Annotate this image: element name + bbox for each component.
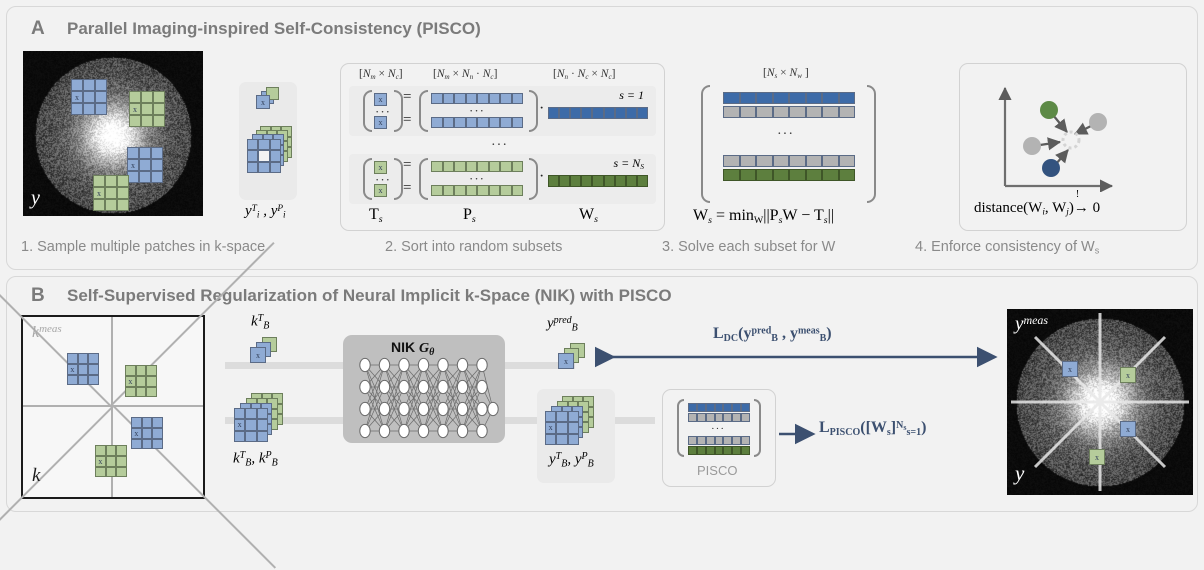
- output-ytp-label: yTB, yPB: [549, 451, 594, 469]
- patch-stack-container: x: [239, 82, 297, 200]
- meas-patch-blue-2: x: [1120, 421, 1136, 437]
- patch-green-2: x: [93, 175, 129, 211]
- panel-b-letter: B: [31, 285, 45, 307]
- caption-step-4: 4. Enforce consistency of Ws: [915, 239, 1099, 256]
- solve-equation: Ws = minW||PsW − Ts||: [693, 207, 834, 226]
- subset-index-last: s = NS: [614, 156, 645, 171]
- loss-pisco-label: LPISCO([Ws]Nss=1): [819, 419, 926, 438]
- kspace-patch-blue-1: x: [67, 353, 99, 385]
- distance-equation: distance(Wi, Wj)!→ 0: [974, 200, 1100, 218]
- patch-stack-label: yTi , yPi: [245, 203, 286, 221]
- subset-row-first: x ··· x = = ···: [349, 86, 656, 136]
- nik-network-graph: [343, 335, 505, 443]
- kspace-patch-green-2: x: [95, 445, 127, 477]
- caption-step-1: 1. Sample multiple patches in k-space: [21, 239, 265, 255]
- panel-a-title: Parallel Imaging-inspired Self-Consisten…: [67, 19, 481, 39]
- matrix-label-T: Ts: [369, 206, 383, 225]
- panel-a-letter: A: [31, 18, 45, 40]
- meas-patch-green-1: x: [1120, 367, 1136, 383]
- kspace-schematic: x x x x kmeas k: [21, 315, 205, 499]
- patch-blue-1: x: [71, 79, 107, 115]
- pisco-row-blue: [688, 403, 750, 412]
- caption-step-3: 3. Solve each subset for W: [662, 239, 835, 255]
- dim-label-T: [Nm × Nc]: [359, 68, 403, 81]
- stack-t-front: x: [256, 95, 270, 109]
- ws-row-grey-2: [723, 155, 855, 167]
- point-blue: [1042, 159, 1060, 177]
- kspace-patch-green-1: x: [125, 365, 157, 397]
- output-pred-label: ypredB: [547, 315, 578, 333]
- matrix-factorisation-box: [Nm × Nc] [Nm × Nn · Nc] [Nn · Nc × Nc] …: [340, 63, 665, 231]
- pisco-row-grey-1: [688, 413, 750, 422]
- patch-stack-label-text: yTi , yPi: [245, 203, 286, 219]
- stack-p-front: [247, 139, 281, 173]
- meas-label: ymeas: [1015, 313, 1048, 335]
- subset-index-first: s = 1: [619, 88, 644, 103]
- caption-step-2: 2. Sort into random subsets: [385, 239, 562, 255]
- meas-patch-blue-1: x: [1062, 361, 1078, 377]
- ws-row-green: [723, 169, 855, 181]
- kspace-patch-blue-2: x: [131, 417, 163, 449]
- pisco-box-label: PISCO: [697, 463, 737, 478]
- ws-row-blue: [723, 92, 855, 104]
- meas-patch-green-2: x: [1089, 449, 1105, 465]
- radial-spokes: [1007, 309, 1193, 495]
- patch-blue-2: x: [127, 147, 163, 183]
- point-grey-left: [1023, 137, 1041, 155]
- matrix-label-W: Ws: [579, 206, 598, 225]
- kspace-meas-label: kmeas: [32, 323, 62, 342]
- subset-row-last: x ··· x = = ···: [349, 154, 656, 204]
- pisco-box: ··· PISCO: [662, 389, 776, 487]
- solve-subset-figure: [Ns × Nw ] ··· Ws = minW||PsW − Ts||: [679, 63, 929, 229]
- consistency-plot-box: distance(Wi, Wj)!→ 0: [959, 63, 1187, 231]
- patch-green-1: x: [129, 91, 165, 127]
- matrix-label-P: Ps: [463, 206, 476, 225]
- pisco-row-grey-2: [688, 436, 750, 445]
- input-kbt-label: kTB: [251, 313, 269, 331]
- meas-y-label: y: [1015, 461, 1024, 486]
- ws-row-grey-1: [723, 106, 855, 118]
- kspace-y-label: y: [31, 187, 40, 210]
- panel-a: A Parallel Imaging-inspired Self-Consist…: [6, 6, 1198, 270]
- kspace-k-label: k: [32, 465, 40, 487]
- dim-label-Ws: [Ns × Nw ]: [763, 67, 809, 80]
- panel-b-title: Self-Supervised Regularization of Neural…: [67, 286, 672, 306]
- kspace-diag-1: [0, 406, 113, 570]
- consistency-scatter: [960, 68, 1186, 192]
- loss-dc-label: LDC(ypredB , ymeasB): [713, 325, 832, 344]
- panel-b: B Self-Supervised Regularization of Neur…: [6, 276, 1198, 512]
- pisco-row-green: [688, 446, 750, 455]
- input-kbtp-label: kTB, kPB: [233, 450, 278, 468]
- dim-label-P: [Nm × Nn · Nc]: [433, 68, 497, 81]
- output-ytp-container: x yTB, yPB: [537, 389, 615, 483]
- dim-label-W: [Nn · Nc × Nc]: [553, 68, 615, 81]
- point-green: [1040, 101, 1058, 119]
- point-grey-right: [1089, 113, 1107, 131]
- nik-network-box: NIK Gθ: [343, 335, 505, 443]
